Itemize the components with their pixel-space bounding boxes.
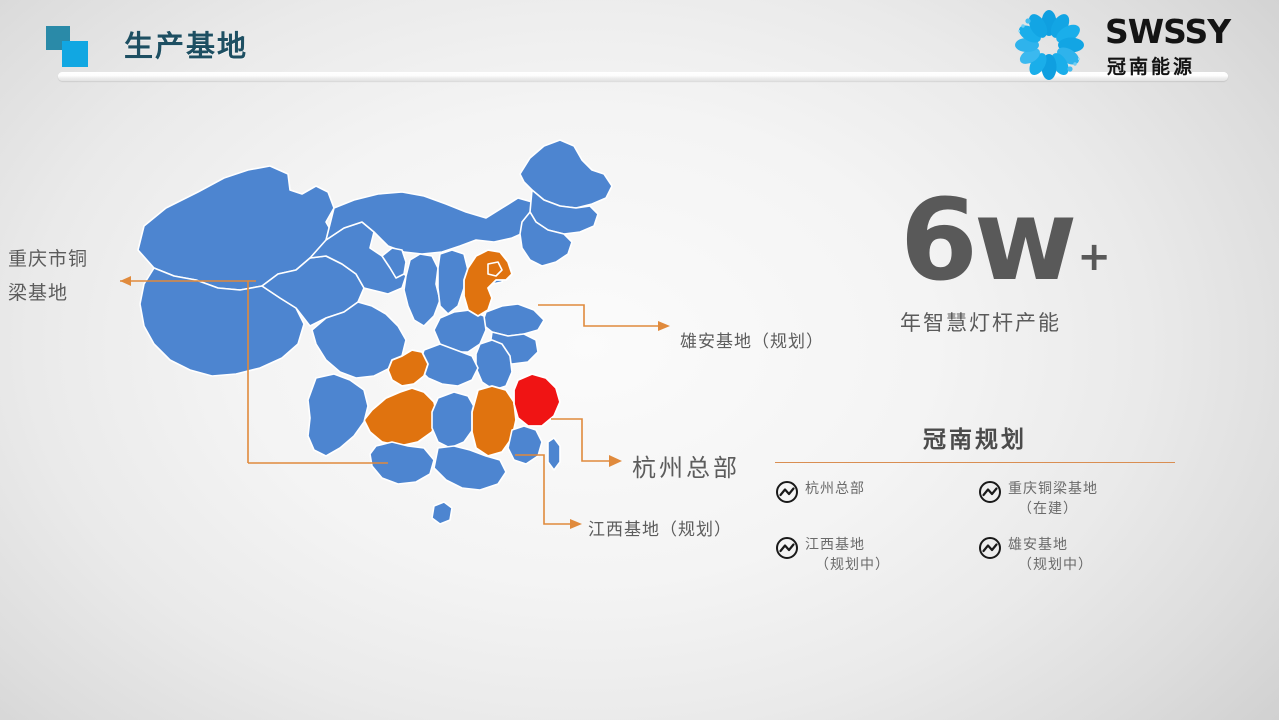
- swssy-petal-mark-icon: [1001, 9, 1097, 81]
- plan-title: 冠南规划: [775, 420, 1175, 454]
- stat-caption: 年智慧灯杆产能: [900, 307, 1230, 337]
- plan-item-text: 杭州总部: [805, 479, 865, 499]
- plan-item-sub: （规划中）: [805, 555, 890, 575]
- plan-item-jiangxi[interactable]: 江西基地 （规划中）: [775, 535, 972, 575]
- plan-item-xiongan[interactable]: 雄安基地 （规划中）: [978, 535, 1175, 575]
- stat-number: 6w: [900, 190, 1073, 293]
- plan-item-chongqing[interactable]: 重庆铜梁基地 （在建）: [978, 479, 1175, 519]
- wave-circle-icon: [775, 480, 799, 504]
- province-shaanxi: [404, 254, 440, 326]
- province-hainan: [432, 502, 452, 524]
- plan-item-label: 杭州总部: [805, 481, 865, 497]
- province-guizhou-highlight: [364, 388, 438, 446]
- plan-item-text: 雄安基地 （规划中）: [1008, 535, 1093, 575]
- plan-panel: 冠南规划 杭州总部 重庆铜梁基地 （在: [775, 420, 1175, 575]
- province-fujian: [508, 426, 542, 464]
- wave-circle-icon: [978, 480, 1002, 504]
- plan-list: 杭州总部 重庆铜梁基地 （在建）: [775, 479, 1175, 575]
- wave-circle-icon: [775, 536, 799, 560]
- header-square-light-icon: [62, 41, 88, 67]
- callout-label-xiongan: 雄安基地（规划）: [680, 327, 824, 352]
- stat-plus-sign: +: [1077, 237, 1111, 293]
- capacity-stat: 6w + 年智慧灯杆产能: [900, 190, 1230, 337]
- province-yunnan: [308, 374, 368, 456]
- plan-item-label: 江西基地: [805, 537, 865, 553]
- plan-item-label: 重庆铜梁基地: [1008, 481, 1098, 497]
- slide-header: 生产基地: [0, 0, 1279, 92]
- china-map-svg: [120, 130, 680, 570]
- plan-item-label: 雄安基地: [1008, 537, 1068, 553]
- province-shandong: [482, 304, 544, 336]
- province-hunan: [432, 392, 476, 448]
- plan-item-text: 重庆铜梁基地 （在建）: [1008, 479, 1098, 519]
- callout-label-headquarters: 杭州总部: [632, 448, 740, 483]
- plan-item-hangzhou[interactable]: 杭州总部: [775, 479, 972, 519]
- slide-canvas: 生产基地: [0, 0, 1279, 720]
- china-map: [120, 130, 680, 570]
- brand-subtitle: 冠南能源: [1107, 52, 1195, 79]
- province-zhejiang-highlight: [514, 374, 560, 426]
- plan-item-sub: （规划中）: [1008, 555, 1093, 575]
- province-guangxi: [370, 442, 434, 484]
- stat-value-row: 6w +: [900, 190, 1230, 293]
- province-taiwan: [548, 438, 560, 470]
- brand-name: SWSSY: [1105, 12, 1230, 51]
- callout-label-chongqing: 重庆市铜 梁基地: [8, 242, 88, 310]
- plan-item-sub: （在建）: [1008, 499, 1098, 519]
- wave-circle-icon: [978, 536, 1002, 560]
- plan-item-text: 江西基地 （规划中）: [805, 535, 890, 575]
- brand-logo: SWSSY 冠南能源: [1001, 6, 1261, 82]
- plan-divider: [775, 462, 1175, 463]
- page-title: 生产基地: [124, 26, 248, 66]
- callout-label-jiangxi: 江西基地（规划）: [588, 515, 732, 540]
